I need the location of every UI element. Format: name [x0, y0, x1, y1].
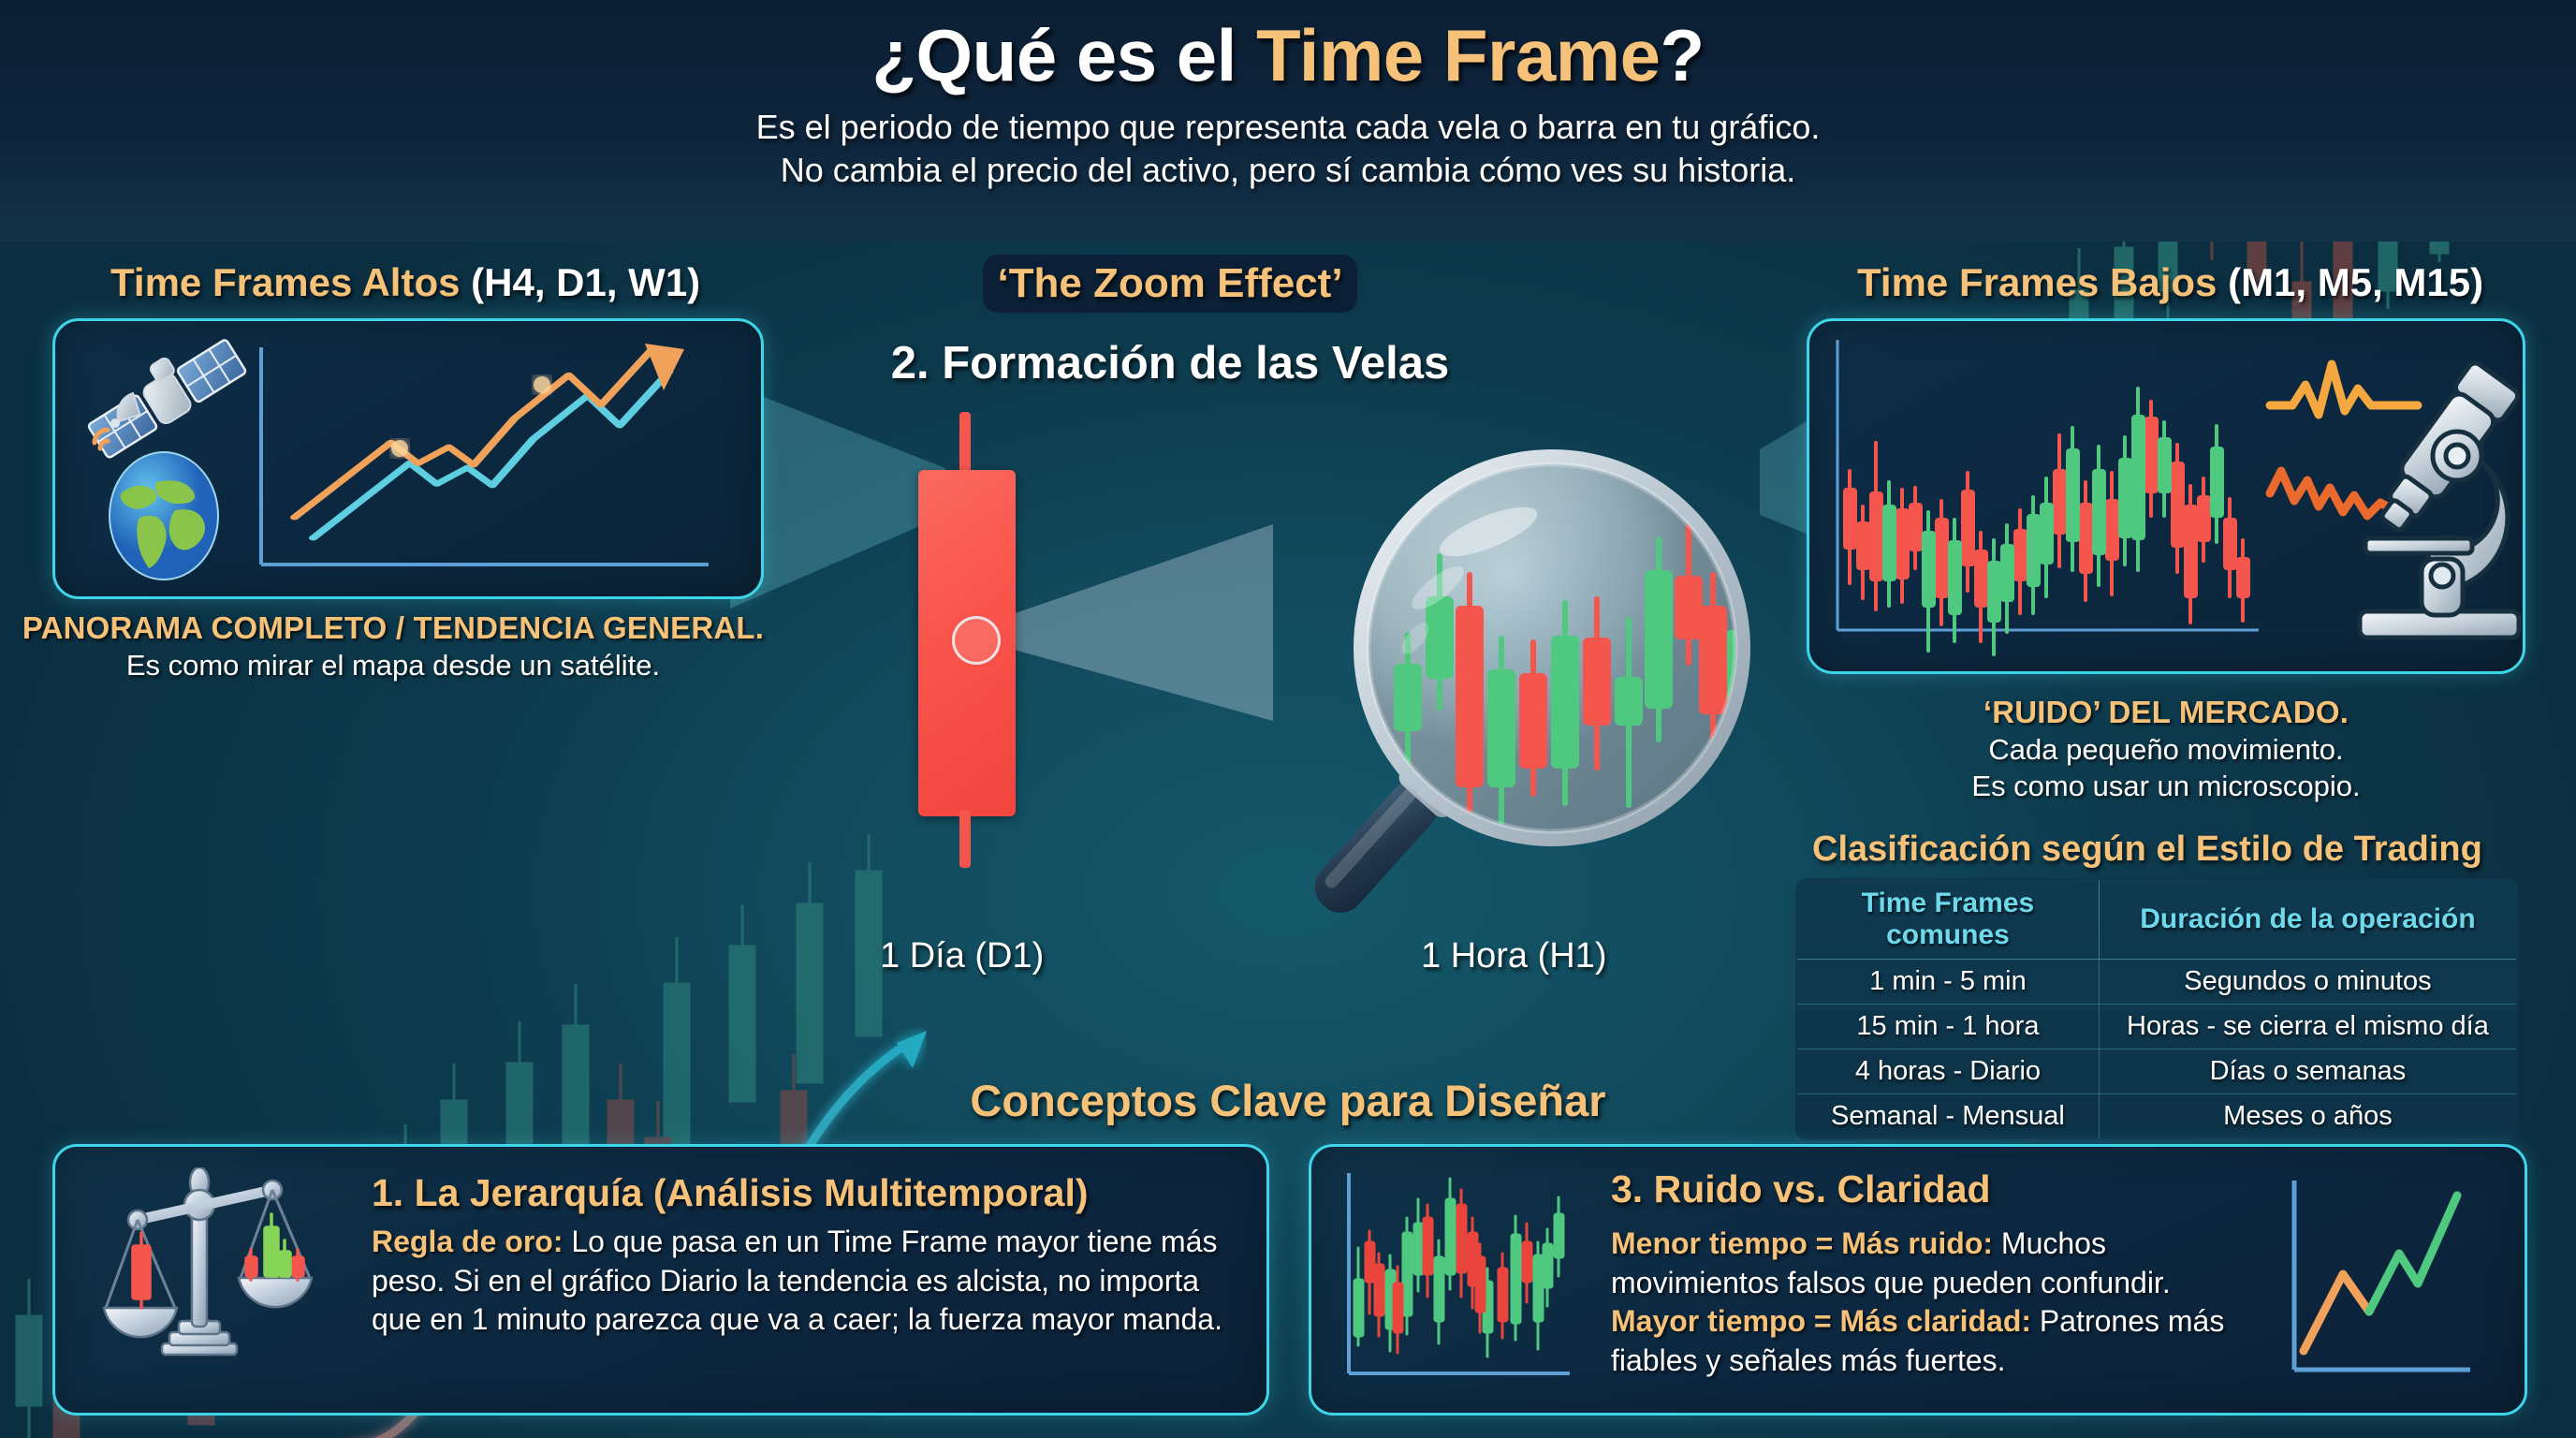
concept-card-2-lead-2: Mayor tiempo = Más claridad:	[1611, 1304, 2031, 1338]
high-timeframe-panel	[52, 318, 764, 599]
title-part-tail: ?	[1660, 14, 1704, 96]
table-row: 15 min - 1 hora Horas - se cierra el mis…	[1796, 1005, 2517, 1049]
microscope-icon	[2345, 338, 2525, 656]
left-caption-strong: PANORAMA COMPLETO / TENDENCIA GENERAL.	[0, 610, 814, 646]
table-cell-duration: Horas - se cierra el mismo día	[2099, 1005, 2517, 1049]
right-heading-strong: Time Frames Bajos	[1857, 260, 2228, 304]
infographic-canvas: ¿Qué es el Time Frame? Es el periodo de …	[0, 0, 2576, 1438]
concepts-title: Conceptos Clave para Diseñar	[0, 1075, 2576, 1126]
candlestick-chart	[1821, 332, 2289, 662]
uptrend-line-chart	[241, 338, 737, 589]
right-heading-light: (M1, M5, M15)	[2228, 260, 2483, 304]
concept-card-2-title: 3. Ruido vs. Claridad	[1611, 1167, 2266, 1211]
d1-label: 1 Día (D1)	[880, 936, 1044, 976]
table-title: Clasificación según el Estilo de Trading	[1812, 829, 2482, 870]
concept-card-1-title: 1. La Jerarquía (Análisis Multitemporal)	[372, 1171, 1242, 1215]
concept-card-1-lead: Regla de oro:	[372, 1225, 563, 1258]
right-caption-strong: ‘RUIDO’ DEL MERCADO.	[1745, 695, 2576, 730]
concept-card-hierarchy: 1. La Jerarquía (Análisis Multitemporal)…	[52, 1144, 1269, 1416]
concept-card-1-body: Regla de oro: Lo que pasa en un Time Fra…	[372, 1223, 1242, 1340]
zoom-effect-label: ‘The Zoom Effect’	[997, 260, 1342, 307]
subtitle-line-1: Es el periodo de tiempo que representa c…	[0, 106, 2576, 149]
balance-scale-icon	[89, 1167, 334, 1401]
table-cell-tf: 1 min - 5 min	[1796, 960, 2099, 1005]
d1-lower-wick	[959, 810, 971, 868]
left-caption-line: Es como mirar el mapa desde un satélite.	[0, 649, 814, 682]
title-part-accent: Time Frame	[1256, 14, 1660, 96]
table-col-header-1: Duración de la operación	[2099, 879, 2517, 960]
concept-card-2-text: 3. Ruido vs. Claridad Menor tiempo = Más…	[1611, 1167, 2266, 1380]
right-caption-line-1: Cada pequeño movimiento.	[1745, 733, 2576, 767]
page-title: ¿Qué es el Time Frame?	[0, 13, 2576, 98]
right-section-heading: Time Frames Bajos (M1, M5, M15)	[1857, 260, 2483, 305]
concept-card-2-body-1: Menor tiempo = Más ruido: Muchos movimie…	[1611, 1225, 2266, 1302]
table-header-row: Time Frames comunes Duración de la opera…	[1796, 879, 2517, 960]
concept-card-2-body-2: Mayor tiempo = Más claridad: Patrones má…	[1611, 1302, 2266, 1380]
left-section-heading: Time Frames Altos (H4, D1, W1)	[110, 260, 700, 305]
left-heading-strong: Time Frames Altos	[110, 260, 471, 304]
zoom-effect-badge: ‘The Zoom Effect’	[983, 255, 1357, 313]
noisy-candlestick-chart-icon	[1334, 1166, 1587, 1400]
concept-card-noise-clarity: 3. Ruido vs. Claridad Menor tiempo = Más…	[1309, 1144, 2527, 1416]
clean-trend-line-chart-icon	[2277, 1167, 2511, 1400]
concept-card-1-text: 1. La Jerarquía (Análisis Multitemporal)…	[372, 1171, 1242, 1340]
globe-icon	[98, 445, 229, 585]
d1-upper-wick	[959, 412, 971, 476]
magnifying-glass-icon	[1254, 421, 1835, 1002]
table-cell-tf: 15 min - 1 hora	[1796, 1005, 2099, 1049]
left-panel-caption: PANORAMA COMPLETO / TENDENCIA GENERAL. E…	[0, 610, 814, 682]
center-subtitle: 2. Formación de las Velas	[889, 337, 1451, 389]
subtitle-line-2: No cambia el precio del activo, pero sí …	[0, 149, 2576, 192]
concept-card-2-lead-1: Menor tiempo = Más ruido:	[1611, 1226, 1993, 1260]
table-col-header-0: Time Frames comunes	[1796, 879, 2099, 960]
low-timeframe-panel	[1807, 318, 2525, 674]
d1-focus-marker	[952, 616, 1001, 665]
table-row: 1 min - 5 min Segundos o minutos	[1796, 960, 2517, 1005]
title-part-plain: ¿Qué es el	[871, 14, 1256, 96]
right-panel-caption: ‘RUIDO’ DEL MERCADO. Cada pequeño movimi…	[1745, 695, 2576, 803]
left-heading-light: (H4, D1, W1)	[471, 260, 700, 304]
table-cell-duration: Segundos o minutos	[2099, 960, 2517, 1005]
header-band: ¿Qué es el Time Frame? Es el periodo de …	[0, 0, 2576, 242]
right-caption-line-2: Es como usar un microscopio.	[1745, 770, 2576, 803]
subtitle: Es el periodo de tiempo que representa c…	[0, 106, 2576, 192]
